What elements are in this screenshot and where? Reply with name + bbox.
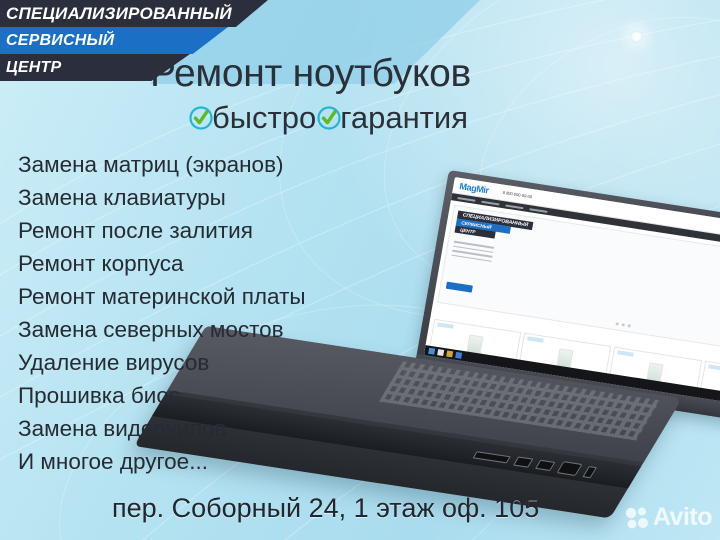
subtitle-fast-label: быстро — [212, 100, 316, 136]
vga-port — [556, 461, 582, 476]
usb-port — [535, 459, 555, 470]
banner-specialized: СПЕЦИАЛИЗИРОВАННЫЙ — [0, 0, 268, 27]
avito-watermark: Avito — [624, 503, 712, 532]
list-item: Ремонт корпуса — [18, 247, 306, 280]
list-item: Прошивка биос — [18, 379, 306, 412]
list-item: Замена клавиатуры — [18, 181, 306, 214]
banner-service: СЕРВИСНЫЙ — [0, 27, 228, 54]
banner-service-label: СЕРВИСНЫЙ — [0, 32, 114, 50]
page-title: Ремонт ноутбуков — [150, 52, 471, 96]
list-item: Замена матриц (экранов) — [18, 148, 306, 181]
taskbar-icon — [437, 349, 444, 356]
services-list: Замена матриц (экранов) Замена клавиатур… — [18, 148, 306, 478]
banner-specialized-label: СПЕЦИАЛИЗИРОВАННЫЙ — [0, 4, 232, 24]
green-check-circle-icon — [188, 105, 214, 131]
carousel-dots — [615, 322, 631, 327]
avito-logo-icon — [624, 505, 650, 531]
list-item: Ремонт после залития — [18, 214, 306, 247]
list-item: Удаление вирусов — [18, 346, 306, 379]
advertisement-poster: СПЕЦИАЛИЗИРОВАННЫЙ СЕРВИСНЫЙ ЦЕНТР Ремон… — [0, 0, 720, 540]
subtitle-warranty-label: гарантия — [340, 100, 468, 136]
hero-more-button — [446, 282, 473, 293]
list-item: И многое другое... — [18, 445, 306, 478]
green-check-circle-icon-2 — [316, 105, 342, 131]
list-item: Замена видеочипов — [18, 412, 306, 445]
subtitle-row: быстро гарантия — [188, 100, 468, 136]
hero-badges: СПЕЦИАЛИЗИРОВАННЫЙ СЕРВИСНЫЙ ЦЕНТР — [455, 210, 534, 244]
sd-card-port — [473, 451, 511, 463]
taskbar-icon — [455, 352, 462, 359]
usb-port — [513, 456, 533, 467]
start-icon — [428, 348, 435, 355]
banner-center-label: ЦЕНТР — [0, 59, 61, 77]
avito-watermark-text: Avito — [653, 503, 712, 532]
list-item: Замена северных мостов — [18, 313, 306, 346]
site-logo: MagMir — [459, 181, 490, 196]
site-phone: 8 800 000-00-00 — [502, 189, 532, 200]
list-item: Ремонт материнской платы — [18, 280, 306, 313]
hero-text-lines — [451, 241, 494, 266]
address-text: пер. Соборный 24, 1 этаж оф. 105 — [112, 493, 539, 524]
taskbar-icon — [446, 350, 453, 357]
